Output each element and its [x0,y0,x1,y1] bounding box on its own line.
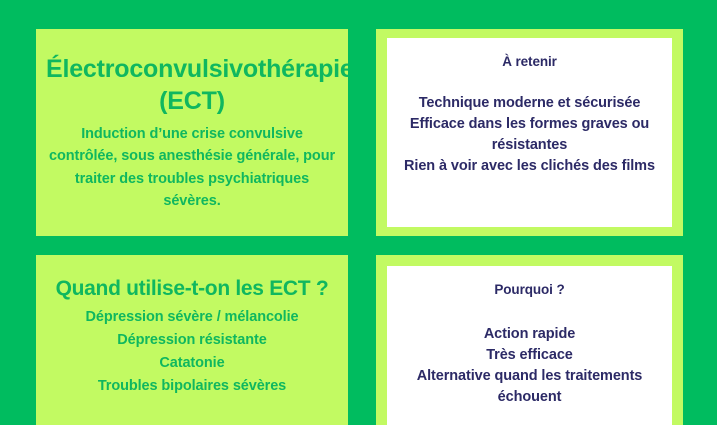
card-a-retenir: À retenir Technique moderne et sécurisée… [376,29,683,236]
card-title: Électroconvulsivothérapie (ECT) Inductio… [36,29,348,236]
list-item: Catatonie [44,352,340,375]
list-item: Dépression résistante [44,329,340,352]
card-quand-utilise: Quand utilise-t-on les ECT ? Dépression … [36,255,348,425]
page-title-line1: Électroconvulsivothérapie [46,55,348,83]
quand-utilise-list: Dépression sévère / mélancolie Dépressio… [44,306,340,398]
list-item: Rien à voir avec les clichés des films [395,156,664,177]
a-retenir-panel: À retenir Technique moderne et sécurisée… [387,38,672,227]
card-pourquoi: Pourquoi ? Action rapide Très efficace A… [376,255,683,425]
quand-utilise-heading: Quand utilise-t-on les ECT ? [56,277,329,301]
slide-canvas: Électroconvulsivothérapie (ECT) Inductio… [0,0,717,412]
list-item: Action rapide [395,324,664,345]
page-title: Électroconvulsivothérapie (ECT) [46,53,338,117]
pourquoi-heading: Pourquoi ? [494,282,564,297]
list-item: Efficace dans les formes graves ou résis… [395,114,664,156]
page-subtitle: Induction d’une crise convulsive contrôl… [46,123,338,211]
page-title-line2: (ECT) [159,87,225,115]
list-item: Dépression sévère / mélancolie [44,306,340,329]
list-item: Alternative quand les traitements échoue… [395,366,664,408]
list-item: Très efficace [395,345,664,366]
list-item: Technique moderne et sécurisée [395,93,664,114]
list-item: Troubles bipolaires sévères [44,375,340,398]
a-retenir-list: Technique moderne et sécurisée Efficace … [395,93,664,177]
pourquoi-list: Action rapide Très efficace Alternative … [395,324,664,408]
a-retenir-heading: À retenir [502,54,557,69]
pourquoi-panel: Pourquoi ? Action rapide Très efficace A… [387,266,672,425]
